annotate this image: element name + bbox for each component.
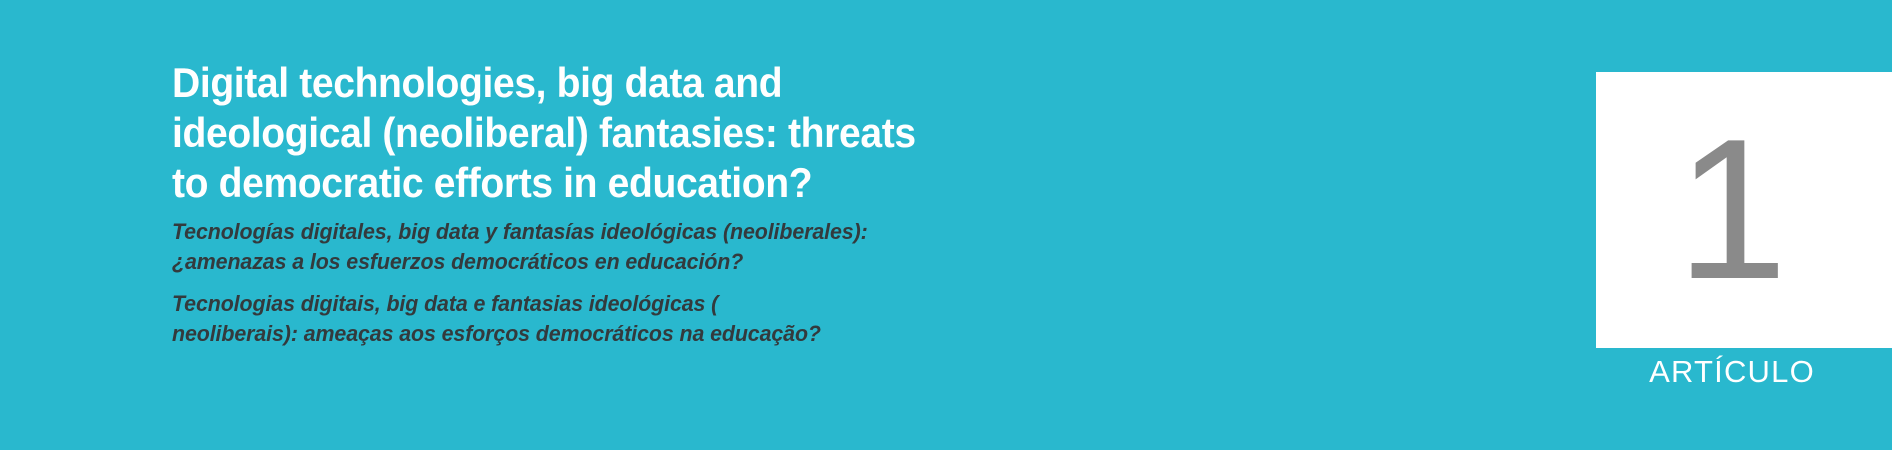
subtitle-spanish: Tecnologías digitales, big data y fantas… (172, 217, 989, 277)
article-text-column: Digital technologies, big data and ideol… (172, 0, 1172, 450)
article-kicker-label: ARTÍCULO (1596, 352, 1868, 392)
subtitle-portuguese: Tecnologias digitais, big data e fantasi… (172, 289, 989, 349)
article-number-card: 1 (1596, 72, 1892, 348)
page-title: Digital technologies, big data and ideol… (172, 58, 944, 208)
article-banner: Digital technologies, big data and ideol… (0, 0, 1892, 450)
article-number: 1 (1596, 72, 1868, 348)
